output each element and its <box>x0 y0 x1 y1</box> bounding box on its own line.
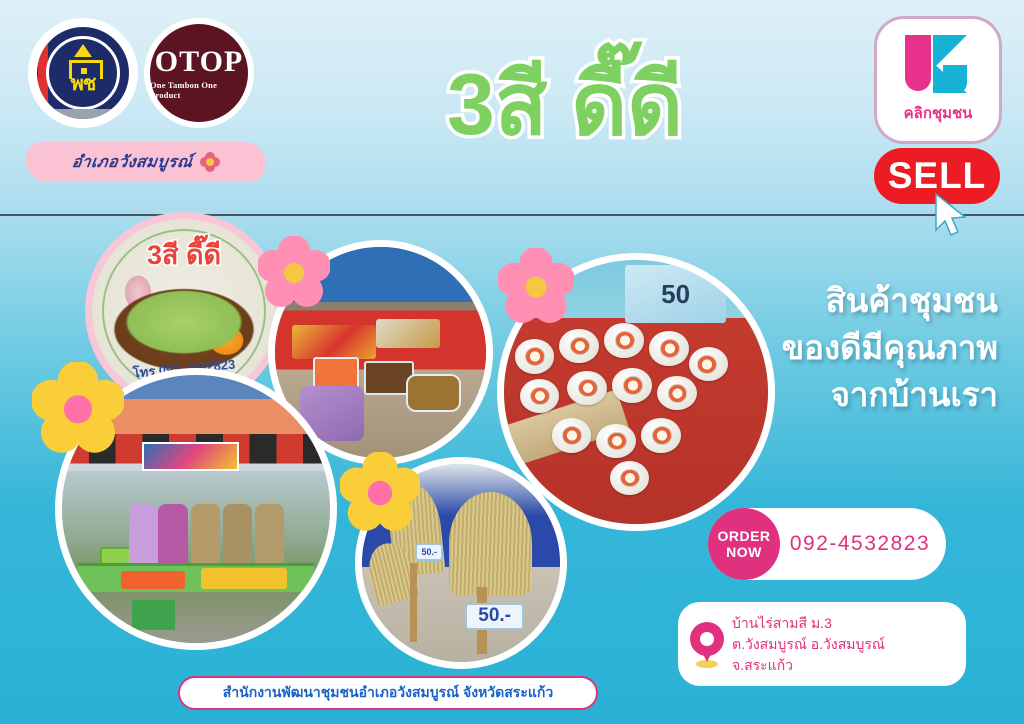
order-now-badge: ORDER NOW <box>708 508 780 580</box>
district-banner-label: อำเภอวังสมบูรณ์ <box>70 150 194 175</box>
order-now-line-1: ORDER <box>717 528 770 544</box>
headline-block: สินค้าชุมชน ของดีมีคุณภาพ จากบ้านเรา <box>698 278 998 419</box>
map-pin-icon <box>690 622 724 666</box>
address-pill: บ้านไร่สามสี ม.3 ต.วังสมบูรณ์ อ.วังสมบูร… <box>678 602 966 686</box>
click-chumchon-label: คลิกชุมชน <box>904 101 973 125</box>
otop-logo-tagline: One Tambon One Product <box>150 80 248 100</box>
bottom-banner: สำนักงานพัฒนาชุมชนอำเภอวังสมบูรณ์ จังหวั… <box>178 676 598 710</box>
otop-logo-word: OTOP <box>155 47 243 77</box>
flower-yellow-1-icon <box>32 362 124 454</box>
product-label-title: 3สี ดี๊ดี <box>92 233 276 276</box>
dopa-cdd-logo: พช <box>28 18 138 128</box>
poster-canvas: พช OTOP One Tambon One Product อำเภอวังส… <box>0 0 1024 724</box>
headline-line-2: ของดีมีคุณภาพ <box>698 325 998 372</box>
flower-pink-small-icon <box>200 152 220 172</box>
page-title: 3สี ดี๊ดี <box>400 62 730 148</box>
flower-yellow-2-icon <box>340 452 420 532</box>
flower-pink-2-icon <box>498 248 574 324</box>
district-banner: อำเภอวังสมบูรณ์ <box>26 142 266 182</box>
mouse-cursor-icon <box>932 192 972 238</box>
address-line-3: จ.สระแก้ว <box>732 655 885 676</box>
broom-price-tag-large: 50.- <box>465 603 524 631</box>
click-chumchon-logo: คลิกชุมชน <box>874 16 1002 144</box>
order-now-pill[interactable]: ORDER NOW 092-4532823 <box>708 508 946 580</box>
broom-price-tag-small: 50.- <box>415 543 443 561</box>
flower-pink-1-icon <box>258 236 330 308</box>
phone-number[interactable]: 092-4532823 <box>780 532 946 556</box>
dopa-logo-initials: พช <box>71 74 96 94</box>
headline-line-3: จากบ้านเรา <box>698 372 998 419</box>
address-line-1: บ้านไร่สามสี ม.3 <box>732 613 885 634</box>
bottom-banner-label: สำนักงานพัฒนาชุมชนอำเภอวังสมบูรณ์ จังหวั… <box>223 682 553 704</box>
sell-button-label: SELL <box>888 155 987 197</box>
order-now-line-2: NOW <box>726 544 762 560</box>
headline-line-1: สินค้าชุมชน <box>698 278 998 325</box>
otop-logo: OTOP One Tambon One Product <box>144 18 254 128</box>
address-line-2: ต.วังสมบูรณ์ อ.วังสมบูรณ์ <box>732 634 885 655</box>
address-lines: บ้านไร่สามสี ม.3 ต.วังสมบูรณ์ อ.วังสมบูร… <box>732 613 885 676</box>
click-chumchon-mark-icon <box>899 35 977 99</box>
